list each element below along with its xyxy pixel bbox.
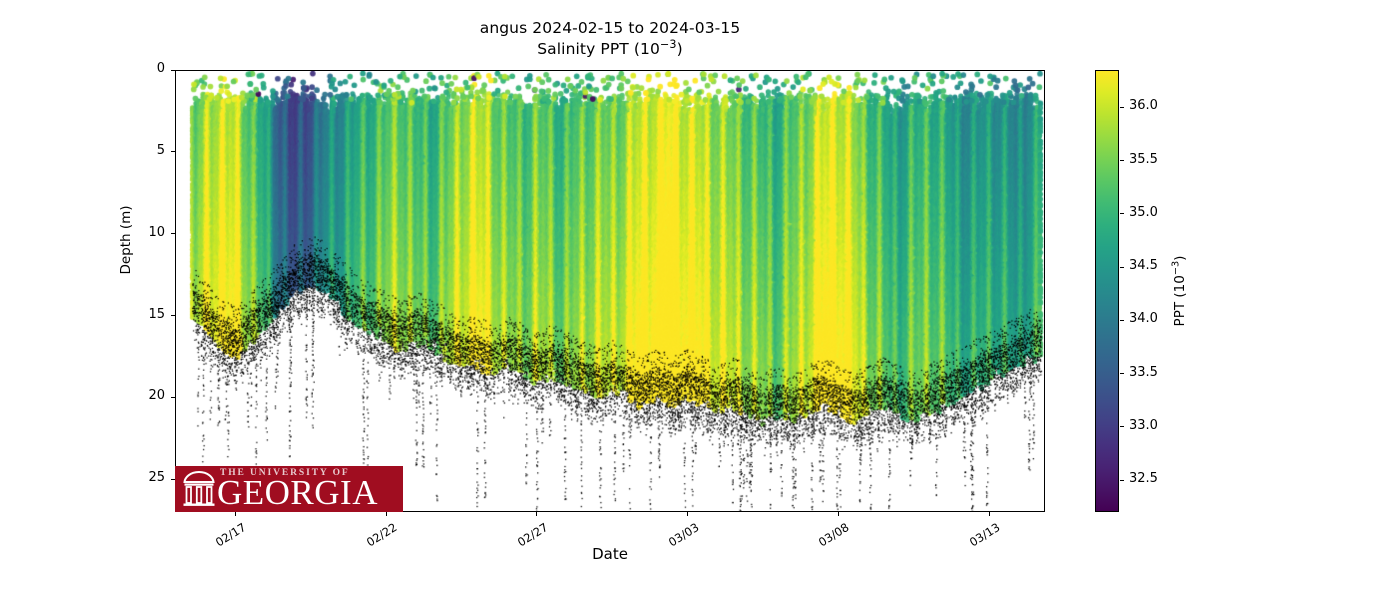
colorbar-gradient — [1096, 71, 1118, 511]
y-tick-label: 10 — [0, 225, 165, 240]
title-line-1: angus 2024-02-15 to 2024-03-15 — [175, 18, 1045, 39]
y-tick-mark — [171, 70, 175, 71]
colorbar-tick-label: 33.0 — [1129, 418, 1158, 433]
y-tick-mark — [171, 233, 175, 234]
colorbar-tick-label: 34.5 — [1129, 258, 1158, 273]
x-tick-mark — [536, 512, 537, 516]
scatter-plot-canvas — [176, 71, 1044, 511]
y-tick-label: 5 — [0, 143, 165, 158]
arch-icon — [182, 470, 216, 508]
colorbar-tick-label: 36.0 — [1129, 98, 1158, 113]
colorbar-tick-mark — [1120, 320, 1124, 321]
y-tick-mark — [171, 397, 175, 398]
colorbar-label-suffix: ) — [1172, 256, 1188, 261]
x-tick-label: 02/22 — [307, 520, 399, 585]
colorbar-tick-mark — [1120, 267, 1124, 268]
x-tick-mark — [838, 512, 839, 516]
y-tick-mark — [171, 151, 175, 152]
colorbar-label-exponent: −3 — [1171, 261, 1182, 275]
colorbar-label-prefix: PPT (10 — [1172, 275, 1188, 326]
title-line-2-suffix: ) — [677, 40, 683, 58]
colorbar-tick-mark — [1120, 373, 1124, 374]
y-tick-label: 0 — [0, 61, 165, 76]
y-tick-label: 15 — [0, 307, 165, 322]
figure-title: angus 2024-02-15 to 2024-03-15 Salinity … — [175, 18, 1045, 60]
colorbar-tick-label: 35.5 — [1129, 152, 1158, 167]
y-tick-label: 20 — [0, 388, 165, 403]
uga-logo-text: THE UNIVERSITY OF GEORGIA — [217, 468, 378, 509]
colorbar-tick-label: 33.5 — [1129, 365, 1158, 380]
title-line-2: Salinity PPT (10−3) — [175, 39, 1045, 60]
x-tick-label: 03/08 — [760, 520, 852, 585]
x-tick-label: 02/27 — [458, 520, 550, 585]
y-tick-mark — [171, 315, 175, 316]
matplotlib-figure: angus 2024-02-15 to 2024-03-15 Salinity … — [0, 0, 1400, 600]
y-tick-label: 25 — [0, 470, 165, 485]
colorbar-tick-mark — [1120, 480, 1124, 481]
y-axis-label: Depth (m) — [118, 205, 134, 274]
colorbar[interactable] — [1095, 70, 1119, 512]
x-tick-label: 03/13 — [910, 520, 1002, 585]
x-tick-label: 02/17 — [156, 520, 248, 585]
colorbar-tick-label: 32.5 — [1129, 471, 1158, 486]
title-line-2-prefix: Salinity PPT (10 — [537, 40, 660, 58]
uga-logo-title: GEORGIA — [217, 476, 378, 509]
plot-area[interactable] — [175, 70, 1045, 512]
colorbar-tick-mark — [1120, 160, 1124, 161]
colorbar-tick-label: 35.0 — [1129, 205, 1158, 220]
x-tick-mark — [235, 512, 236, 516]
colorbar-tick-label: 34.0 — [1129, 311, 1158, 326]
colorbar-tick-mark — [1120, 426, 1124, 427]
colorbar-label: PPT (10−3) — [1172, 256, 1188, 327]
title-line-2-exponent: −3 — [660, 38, 677, 51]
colorbar-tick-mark — [1120, 213, 1124, 214]
x-tick-mark — [687, 512, 688, 516]
x-axis-label: Date — [592, 545, 628, 563]
uga-logo: THE UNIVERSITY OF GEORGIA — [175, 466, 403, 512]
x-tick-mark — [989, 512, 990, 516]
x-tick-mark — [386, 512, 387, 516]
colorbar-tick-mark — [1120, 107, 1124, 108]
